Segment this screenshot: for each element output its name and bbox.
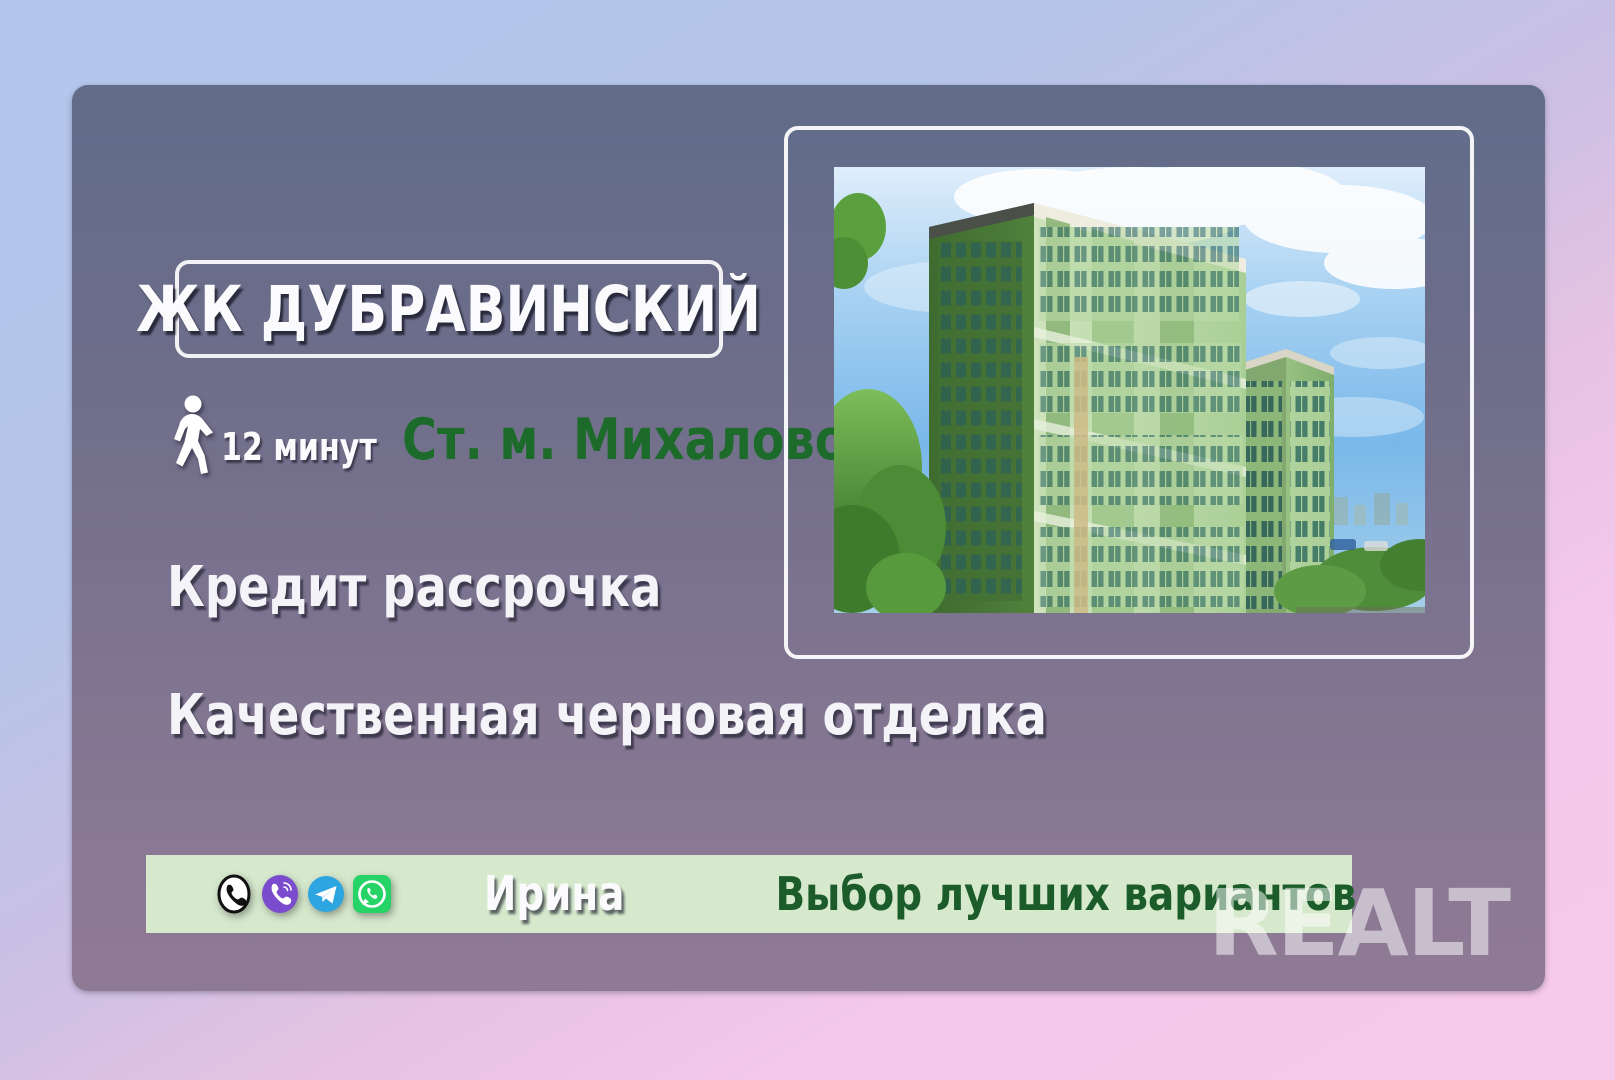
metro-station-label: Ст. м. Михалово: [402, 407, 848, 473]
contact-footer-band: Ирина Выбор лучших вариантов: [146, 855, 1352, 933]
project-title-plate: ЖК ДУБРАВИНСКИЙ: [175, 260, 723, 358]
walk-time-label: 12 минут: [221, 425, 377, 469]
viber-icon[interactable]: [260, 874, 300, 914]
contact-icon-group: [214, 874, 392, 914]
building-render-illustration: [834, 167, 1425, 613]
phone-icon[interactable]: [214, 874, 254, 914]
whatsapp-icon[interactable]: [352, 874, 392, 914]
feature-rough-finishing: Качественная черновая отделка: [167, 683, 1047, 748]
agent-name: Ирина: [484, 866, 625, 922]
feature-credit-installment: Кредит рассрочка: [167, 555, 661, 620]
building-photo: [834, 167, 1425, 613]
transit-info-row: 12 минут Ст. м. Михалово: [167, 383, 881, 475]
walking-person-icon: [167, 395, 215, 475]
advertisement-card: ЖК ДУБРАВИНСКИЙ 12 минут Ст. м. Михалово…: [72, 85, 1545, 991]
page-title: ЖК ДУБРАВИНСКИЙ: [137, 278, 762, 341]
tagline-text: Выбор лучших вариантов: [776, 867, 1357, 921]
telegram-icon[interactable]: [306, 874, 346, 914]
